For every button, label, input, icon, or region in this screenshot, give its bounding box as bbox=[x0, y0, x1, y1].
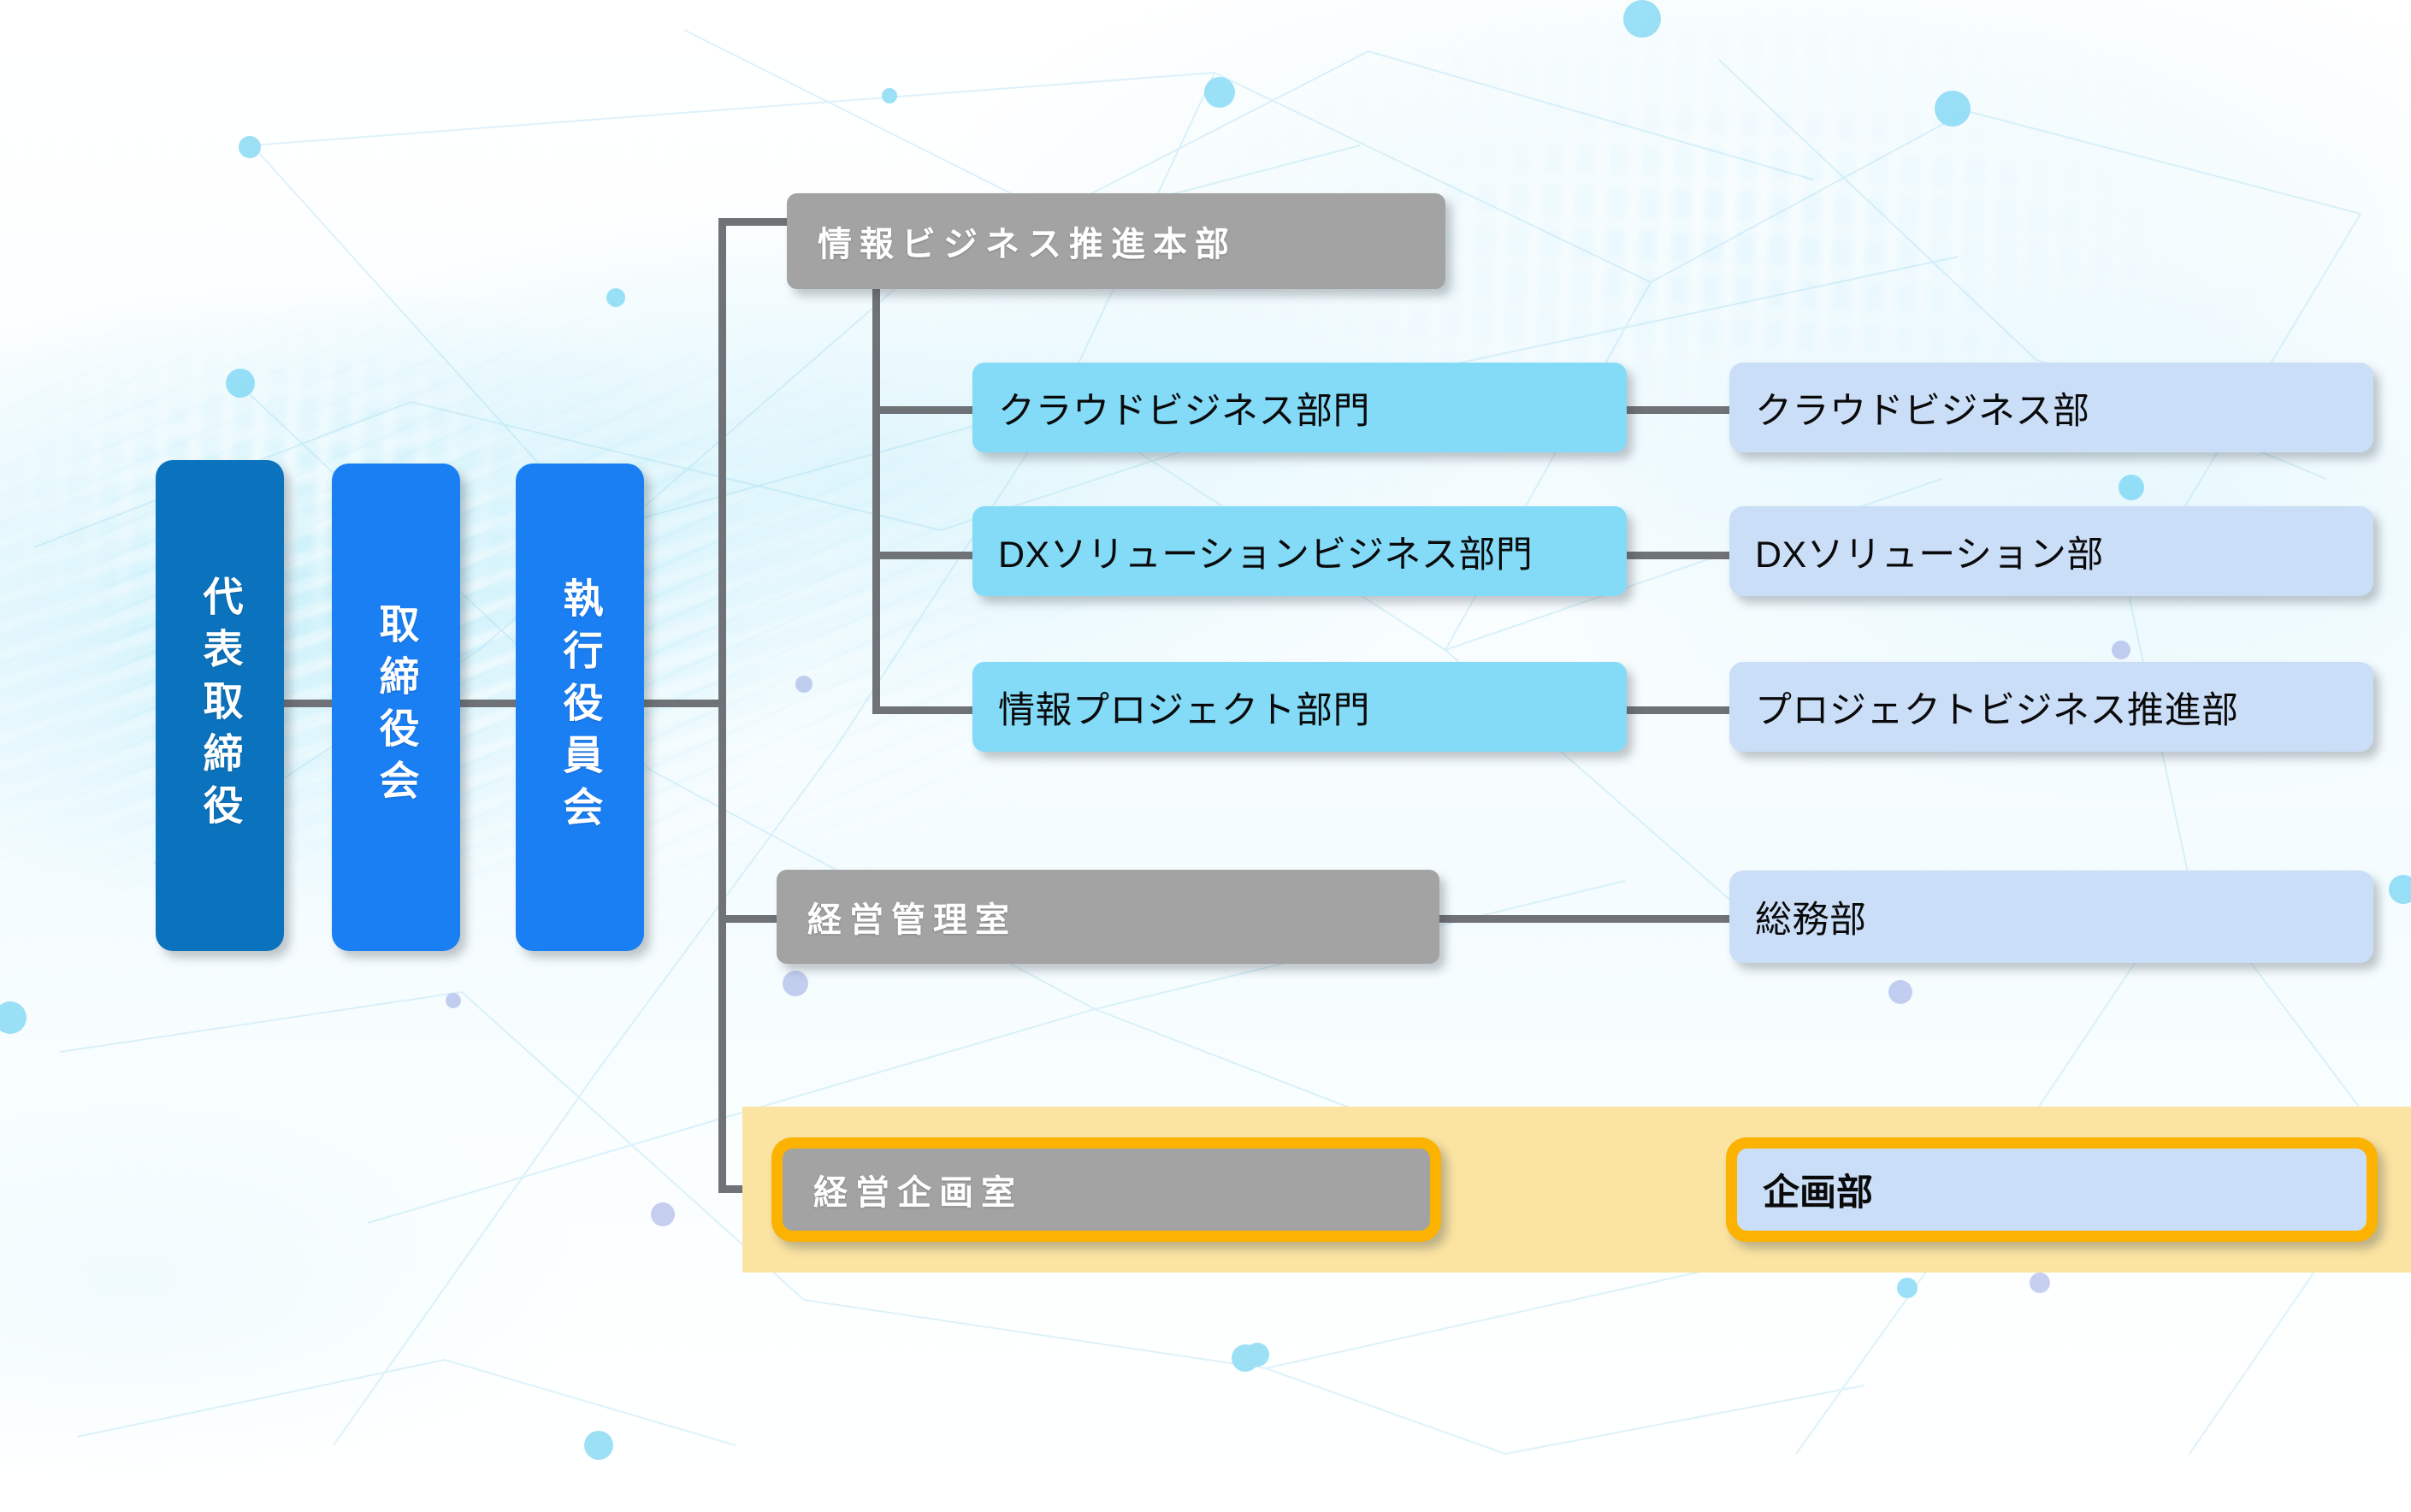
unit-box-planning-dept[interactable]: 企画部 bbox=[1726, 1137, 2378, 1242]
connector-dept2-to-unit bbox=[1623, 552, 1733, 559]
unit-box-general-affairs-dept[interactable]: 総務部 bbox=[1729, 871, 2373, 963]
connector-exec-3-trunk bbox=[643, 700, 725, 707]
unit-box-cloud-business-dept[interactable]: クラウドビジネス部 bbox=[1729, 363, 2373, 452]
division-header-inner: 経営企画室 bbox=[783, 1149, 1430, 1231]
unit-label: プロジェクトビジネス推進部 bbox=[1755, 681, 2239, 734]
unit-label: DXソリューション部 bbox=[1755, 525, 2104, 578]
connector-sub-to-dept1 bbox=[872, 406, 979, 414]
connector-exec-2-3 bbox=[460, 700, 518, 707]
exec-box-label: 執行役員会 bbox=[551, 577, 610, 838]
connector-trunk-to-division1 bbox=[718, 218, 795, 226]
connector-sub-to-dept3 bbox=[872, 706, 979, 714]
exec-box-representative-director[interactable]: 代表取締役 bbox=[156, 460, 284, 951]
connector-division2-to-unit bbox=[1437, 915, 1734, 923]
unit-box-project-business-dept[interactable]: プロジェクトビジネス推進部 bbox=[1729, 662, 2373, 752]
unit-label: 総務部 bbox=[1755, 890, 1867, 943]
department-label: 情報プロジェクト部門 bbox=[998, 681, 1370, 734]
division-header-info-business[interactable]: 情報ビジネス推進本部 bbox=[787, 193, 1445, 289]
unit-box-inner: 企画部 bbox=[1737, 1149, 2367, 1231]
unit-box-dx-solution-dept[interactable]: DXソリューション部 bbox=[1729, 506, 2373, 596]
connector-trunk-to-division2 bbox=[718, 915, 785, 923]
division-header-label: 経営管理室 bbox=[807, 892, 1017, 942]
unit-label: クラウドビジネス部 bbox=[1755, 381, 2090, 434]
connector-exec-1-2 bbox=[282, 700, 335, 707]
exec-box-board-of-directors[interactable]: 取締役会 bbox=[332, 464, 460, 951]
department-label: DXソリューションビジネス部門 bbox=[998, 525, 1533, 578]
connector-main-trunk bbox=[718, 218, 726, 1193]
exec-box-label: 取締役会 bbox=[367, 603, 426, 812]
division-header-management-admin[interactable]: 経営管理室 bbox=[777, 870, 1439, 964]
exec-box-executive-officers[interactable]: 執行役員会 bbox=[516, 464, 644, 951]
division-header-management-planning[interactable]: 経営企画室 bbox=[771, 1137, 1441, 1242]
unit-label: 企画部 bbox=[1763, 1163, 1873, 1216]
connector-sub-to-dept2 bbox=[872, 552, 979, 559]
connector-dept1-to-unit bbox=[1623, 406, 1733, 414]
exec-box-label: 代表取締役 bbox=[191, 576, 250, 836]
department-box-cloud-business[interactable]: クラウドビジネス部門 bbox=[972, 363, 1627, 452]
division-header-label: 情報ビジネス推進本部 bbox=[818, 216, 1237, 266]
department-box-dx-solution-business[interactable]: DXソリューションビジネス部門 bbox=[972, 506, 1627, 596]
connector-dept3-to-unit bbox=[1623, 706, 1733, 714]
division-header-label: 経営企画室 bbox=[813, 1165, 1023, 1214]
department-label: クラウドビジネス部門 bbox=[998, 381, 1370, 434]
connector-sub-trunk bbox=[872, 278, 880, 714]
department-box-info-project[interactable]: 情報プロジェクト部門 bbox=[972, 662, 1627, 752]
org-chart-canvas: 代表取締役 取締役会 執行役員会 情報ビジネス推進本部 クラウドビジネス部門 D… bbox=[0, 0, 2411, 1512]
